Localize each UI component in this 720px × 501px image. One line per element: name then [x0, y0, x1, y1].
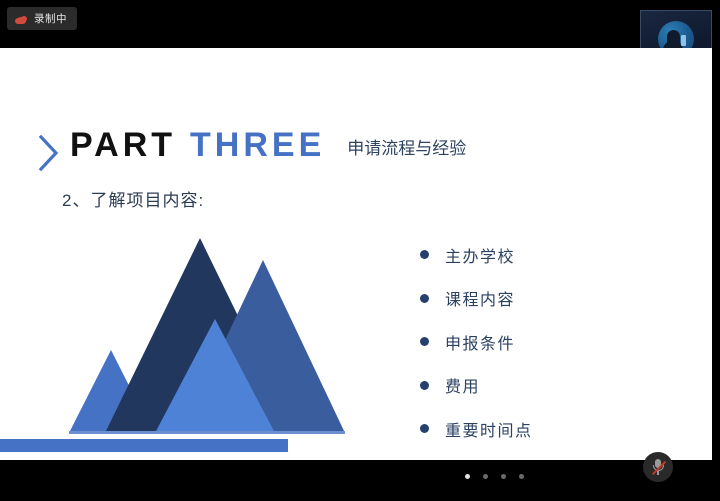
mountain-illustration: [60, 233, 360, 438]
bullet-dot-icon: [420, 294, 429, 303]
page-dot[interactable]: [483, 474, 488, 479]
cloud-record-icon: [15, 14, 28, 24]
list-item-label: 申报条件: [445, 330, 515, 354]
recording-badge: 录制中: [7, 7, 77, 30]
mic-mute-button[interactable]: [643, 452, 673, 482]
list-item-label: 课程内容: [445, 286, 515, 310]
list-item[interactable]: 费用: [420, 364, 533, 408]
bullet-dot-icon: [420, 424, 429, 433]
page-indicator[interactable]: [465, 474, 524, 479]
list-item[interactable]: 课程内容: [420, 277, 533, 321]
screen-root: 录制中 0201910... PART THREE 申请流程与经验 2、了解项目…: [0, 0, 720, 501]
slide-title: PART THREE 申请流程与经验: [70, 126, 466, 165]
bullet-dot-icon: [420, 250, 429, 259]
bullet-dot-icon: [420, 337, 429, 346]
bottom-bar: [0, 460, 720, 501]
bullet-dot-icon: [420, 381, 429, 390]
list-item-label: 重要时间点: [445, 417, 533, 441]
list-item-label: 费用: [445, 373, 480, 397]
bullet-list: 主办学校 课程内容 申报条件 费用 重要时间点: [420, 233, 533, 451]
list-item[interactable]: 申报条件: [420, 320, 533, 364]
microphone-muted-icon: [652, 459, 664, 476]
title-three: THREE: [190, 126, 325, 165]
page-dot[interactable]: [501, 474, 506, 479]
title-part: PART: [70, 126, 176, 165]
presentation-slide[interactable]: PART THREE 申请流程与经验 2、了解项目内容: 主办学校: [0, 48, 712, 460]
list-item[interactable]: 重要时间点: [420, 407, 533, 451]
page-dot[interactable]: [519, 474, 524, 479]
recording-label: 录制中: [34, 11, 67, 26]
list-item[interactable]: 主办学校: [420, 233, 533, 277]
section-heading: 2、了解项目内容:: [62, 186, 204, 211]
accent-bar: [0, 439, 288, 452]
list-item-label: 主办学校: [445, 243, 515, 267]
page-dot[interactable]: [465, 474, 470, 479]
chevron-right-icon: [38, 134, 60, 172]
slide-subtitle: 申请流程与经验: [347, 134, 466, 159]
